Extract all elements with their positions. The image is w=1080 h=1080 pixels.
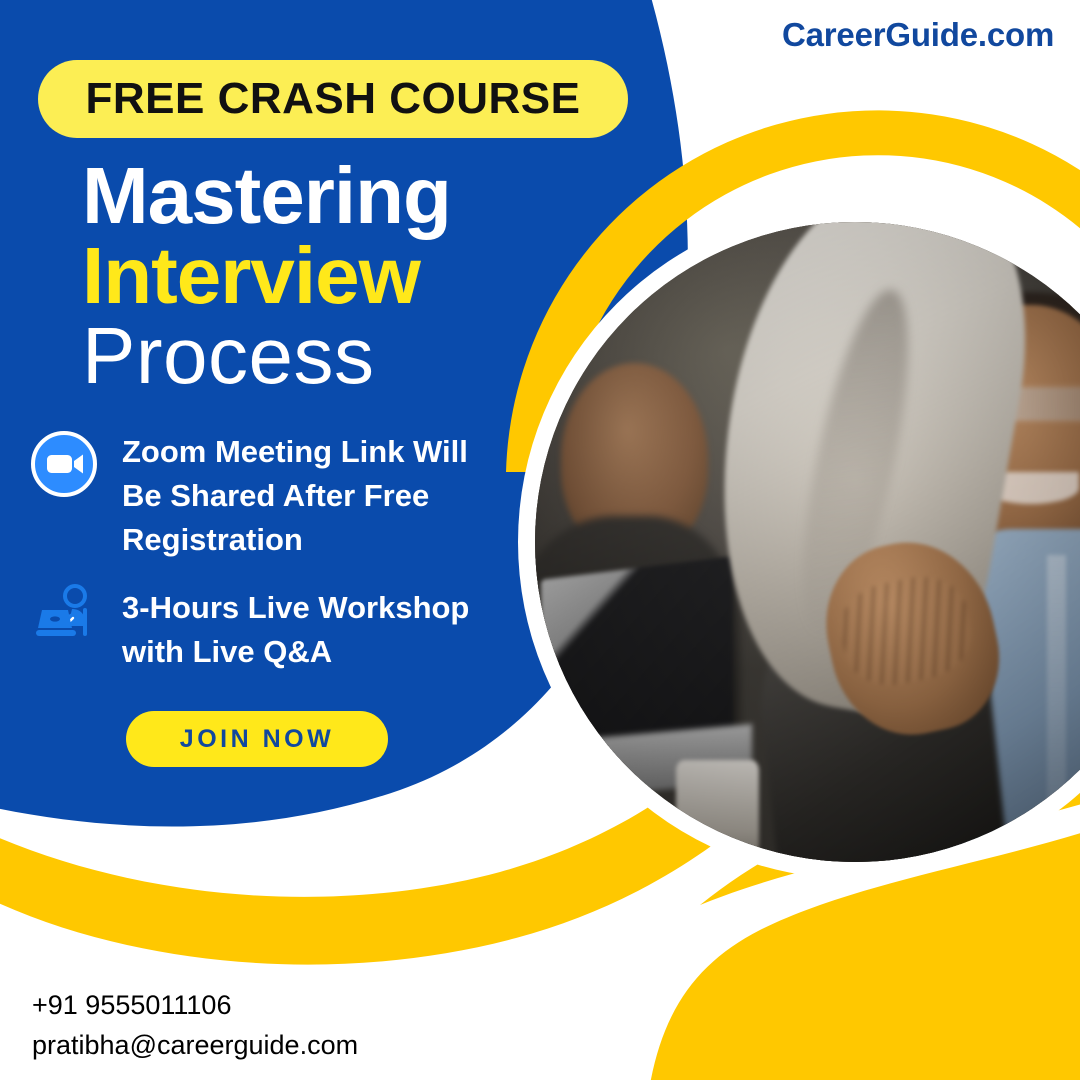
zoom-video-icon [28, 428, 100, 500]
join-now-label: JOIN NOW [180, 725, 334, 754]
person-at-laptop-icon [28, 578, 100, 650]
photo-vignette [535, 222, 1080, 862]
hero-photo-image [535, 222, 1080, 862]
feature-item-zoom: Zoom Meeting Link Will Be Shared After F… [28, 428, 508, 562]
hero-photo [535, 222, 1080, 862]
join-now-button[interactable]: JOIN NOW [126, 711, 388, 767]
contact-phone[interactable]: +91 9555011106 [32, 985, 358, 1025]
feature-item-workshop: 3-Hours Live Workshop with Live Q&A [28, 578, 518, 674]
headline-line-1: Mastering [82, 156, 451, 236]
promo-poster: CareerGuide.com FREE CRASH COURSE Master… [0, 0, 1080, 1080]
feature-label-workshop: 3-Hours Live Workshop with Live Q&A [122, 578, 518, 674]
headline-line-2: Interview [82, 236, 451, 316]
contact-info: +91 9555011106 pratibha@careerguide.com [32, 985, 358, 1065]
brand-name: CareerGuide.com [782, 16, 1054, 54]
feature-label-zoom: Zoom Meeting Link Will Be Shared After F… [122, 428, 508, 562]
badge-label: FREE CRASH COURSE [86, 74, 581, 124]
free-crash-course-badge: FREE CRASH COURSE [38, 60, 628, 138]
headline-line-3: Process [82, 316, 451, 396]
contact-email[interactable]: pratibha@careerguide.com [32, 1025, 358, 1065]
headline: Mastering Interview Process [82, 156, 451, 396]
